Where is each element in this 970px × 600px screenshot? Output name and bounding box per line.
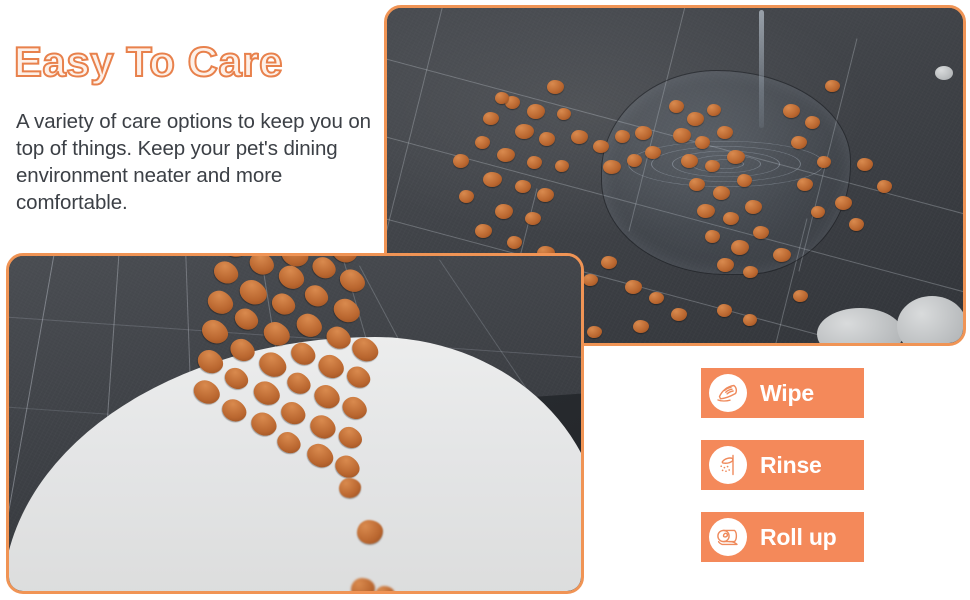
care-option-rinse[interactable]: Rinse bbox=[701, 440, 864, 490]
care-option-label: Wipe bbox=[760, 380, 814, 407]
decor-stone bbox=[897, 296, 966, 346]
care-options-list: Wipe Rinse bbox=[701, 368, 864, 584]
hand-wiping-cloth-icon bbox=[709, 374, 747, 412]
care-option-label: Rinse bbox=[760, 452, 822, 479]
water-pool bbox=[601, 70, 851, 275]
rolled-mat-icon bbox=[709, 518, 747, 556]
product-feature-banner: Easy To Care A variety of care options t… bbox=[0, 0, 970, 600]
care-option-label: Roll up bbox=[760, 524, 837, 551]
shower-head-icon bbox=[709, 446, 747, 484]
feature-description: A variety of care options to keep you on… bbox=[16, 108, 376, 216]
water-stream bbox=[759, 10, 764, 128]
decor-stone bbox=[935, 66, 953, 80]
photo-mat-tilted-pouring-kibble bbox=[6, 253, 584, 594]
page-title: Easy To Care bbox=[14, 40, 283, 84]
care-option-roll-up[interactable]: Roll up bbox=[701, 512, 864, 562]
care-option-wipe[interactable]: Wipe bbox=[701, 368, 864, 418]
